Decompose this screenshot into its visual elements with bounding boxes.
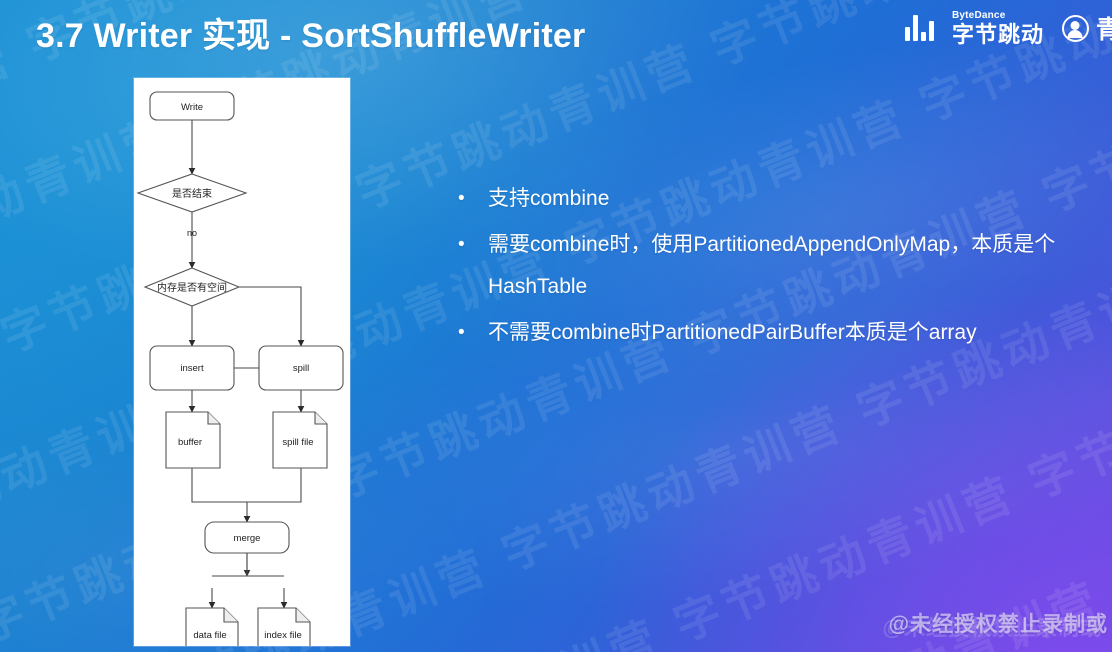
flowchart-node-is-end: 是否结束: [138, 174, 246, 212]
node-label: spill file: [282, 437, 313, 448]
flowchart-node-spill-file: spill file: [273, 412, 327, 468]
flowchart-node-has-space: 内存是否有空间: [145, 268, 239, 306]
bullet-marker-icon: •: [458, 178, 488, 220]
flowchart-node-merge: merge: [205, 522, 289, 553]
node-label: 内存是否有空间: [157, 281, 227, 294]
bullet-item: • 支持combine: [458, 178, 1104, 220]
bytedance-en-label: ByteDance: [952, 11, 1044, 21]
bullet-text: 不需要combine时PartitionedPairBuffer本质是个arra…: [488, 312, 1104, 354]
node-label: index file: [264, 630, 302, 641]
bytedance-wordmark: ByteDance 字节跳动: [952, 11, 1044, 46]
node-label: data file: [193, 630, 226, 641]
node-label: 是否结束: [172, 187, 212, 200]
flowchart-node-index-file: index file: [258, 608, 310, 646]
flowchart-panel: Write 是否结束 no 内存是否有空间 insert spill: [134, 78, 350, 646]
campus-label: 青: [1096, 10, 1112, 46]
flowchart-node-spill: spill: [259, 346, 343, 390]
bytedance-cn-label: 字节跳动: [952, 24, 1044, 46]
bullet-marker-icon: •: [458, 312, 488, 354]
bullet-list: • 支持combine • 需要combine时，使用PartitionedAp…: [458, 178, 1104, 358]
bullet-item: • 不需要combine时PartitionedPairBuffer本质是个ar…: [458, 312, 1104, 354]
slide-canvas: 字节跳动青训营 字节跳动青训营 字节跳动青训营 字节跳动青训营 字节跳动青训营 …: [0, 0, 1112, 652]
bullet-text: 需要combine时，使用PartitionedAppendOnlyMap，本质…: [488, 224, 1104, 308]
flowchart-node-buffer: buffer: [166, 412, 220, 468]
bytedance-bars-icon: [905, 15, 934, 41]
bullet-marker-icon: •: [458, 224, 488, 266]
flowchart-node-insert: insert: [150, 346, 234, 390]
person-circle-icon: [1062, 15, 1089, 42]
flowchart-node-write: Write: [150, 92, 234, 120]
node-label: buffer: [178, 437, 202, 448]
bullet-text: 支持combine: [488, 178, 1104, 220]
copyright-notice: @未经授权禁止录制或: [889, 608, 1108, 638]
flowchart-diagram: Write 是否结束 no 内存是否有空间 insert spill: [134, 78, 350, 646]
brand-lockup: ByteDance 字节跳动 青: [905, 6, 1112, 50]
node-label: insert: [180, 363, 204, 374]
node-label: spill: [293, 363, 309, 374]
edge-label-no: no: [187, 228, 197, 238]
node-label: Write: [181, 102, 203, 113]
node-label: merge: [234, 533, 261, 544]
bullet-item: • 需要combine时，使用PartitionedAppendOnlyMap，…: [458, 224, 1104, 308]
campus-logo: 青: [1062, 10, 1112, 46]
slide-title: 3.7 Writer 实现 - SortShuffleWriter: [36, 8, 585, 57]
flowchart-node-data-file: data file: [186, 608, 238, 646]
